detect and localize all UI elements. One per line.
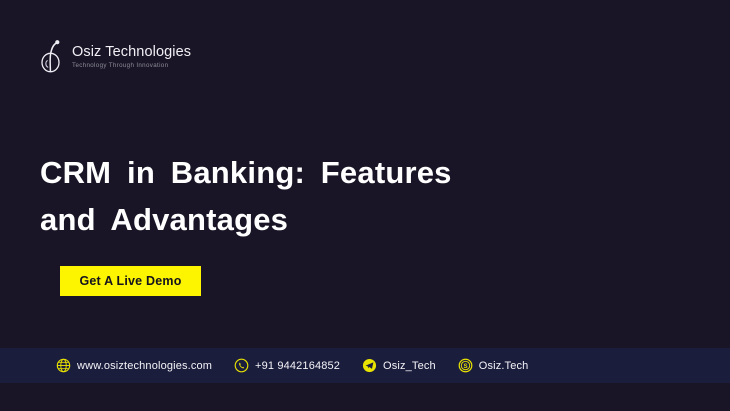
promo-banner: Osiz Technologies Technology Through Inn… — [0, 0, 730, 411]
footer-website-label: www.osiztechnologies.com — [77, 360, 212, 372]
footer-telegram-label: Osiz_Tech — [383, 360, 436, 372]
contact-footer-bar: www.osiztechnologies.com +91 9442164852 … — [0, 348, 730, 383]
logo-tagline: Technology Through Innovation — [72, 61, 191, 70]
footer-item-website[interactable]: www.osiztechnologies.com — [56, 358, 212, 373]
globe-icon — [56, 358, 71, 373]
headline-line-1: CRM in Banking: Features — [40, 149, 560, 196]
osiz-swirl-logomark — [37, 40, 67, 73]
telegram-icon — [362, 358, 377, 373]
svg-text:S: S — [463, 363, 467, 370]
footer-item-telegram[interactable]: Osiz_Tech — [362, 358, 436, 373]
footer-item-whatsapp[interactable]: +91 9442164852 — [234, 358, 340, 373]
skype-icon: S — [458, 358, 473, 373]
footer-item-skype[interactable]: S Osiz.Tech — [458, 358, 529, 373]
logo-text-block: Osiz Technologies Technology Through Inn… — [72, 44, 191, 70]
headline-line-2: and Advantages — [40, 196, 560, 243]
footer-phone-label: +91 9442164852 — [255, 360, 340, 372]
brand-logo[interactable]: Osiz Technologies Technology Through Inn… — [37, 40, 191, 73]
page-title: CRM in Banking: Features and Advantages — [40, 149, 560, 243]
whatsapp-icon — [234, 358, 249, 373]
footer-skype-label: Osiz.Tech — [479, 360, 529, 372]
logo-company-name: Osiz Technologies — [72, 45, 191, 60]
get-a-live-demo-button[interactable]: Get A Live Demo — [60, 266, 201, 296]
